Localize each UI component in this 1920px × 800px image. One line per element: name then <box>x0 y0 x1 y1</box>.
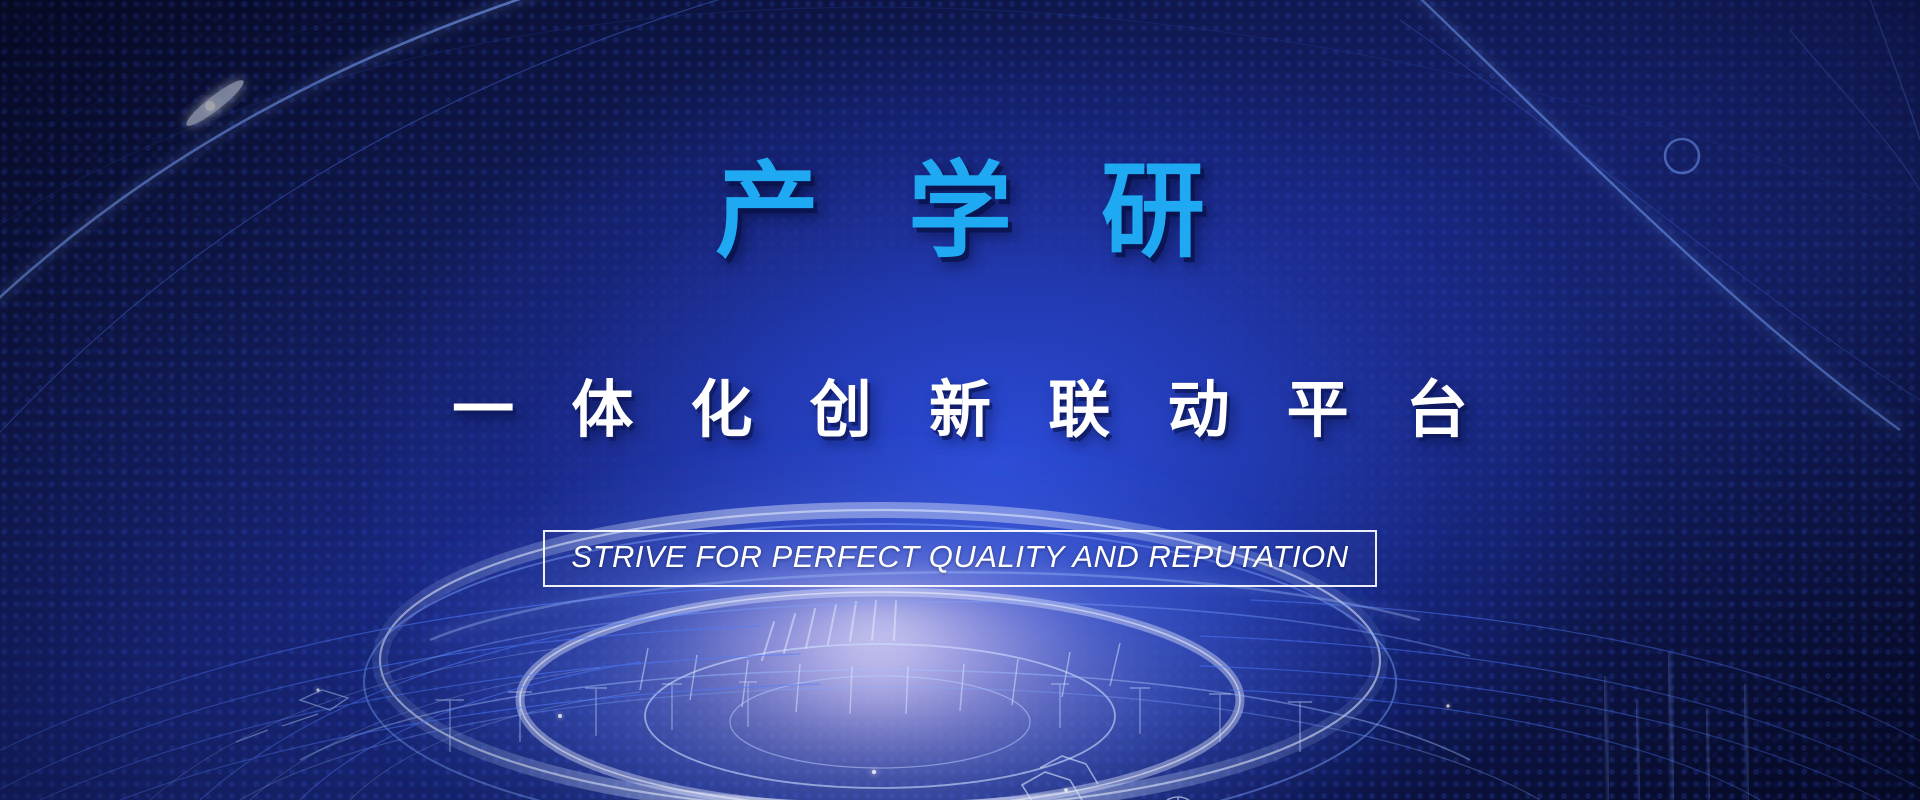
page-title-sub: 一 体 化 创 新 联 动 平 台 <box>0 380 1920 442</box>
banner-content: 产 学 研 一 体 化 创 新 联 动 平 台 STRIVE FOR PERFE… <box>0 0 1920 800</box>
page-title-main: 产 学 研 <box>0 160 1920 264</box>
tagline-container: STRIVE FOR PERFECT QUALITY AND REPUTATIO… <box>0 530 1920 587</box>
hero-banner: 产 学 研 一 体 化 创 新 联 动 平 台 STRIVE FOR PERFE… <box>0 0 1920 800</box>
tagline-box: STRIVE FOR PERFECT QUALITY AND REPUTATIO… <box>543 530 1376 587</box>
tagline-text: STRIVE FOR PERFECT QUALITY AND REPUTATIO… <box>571 541 1348 574</box>
